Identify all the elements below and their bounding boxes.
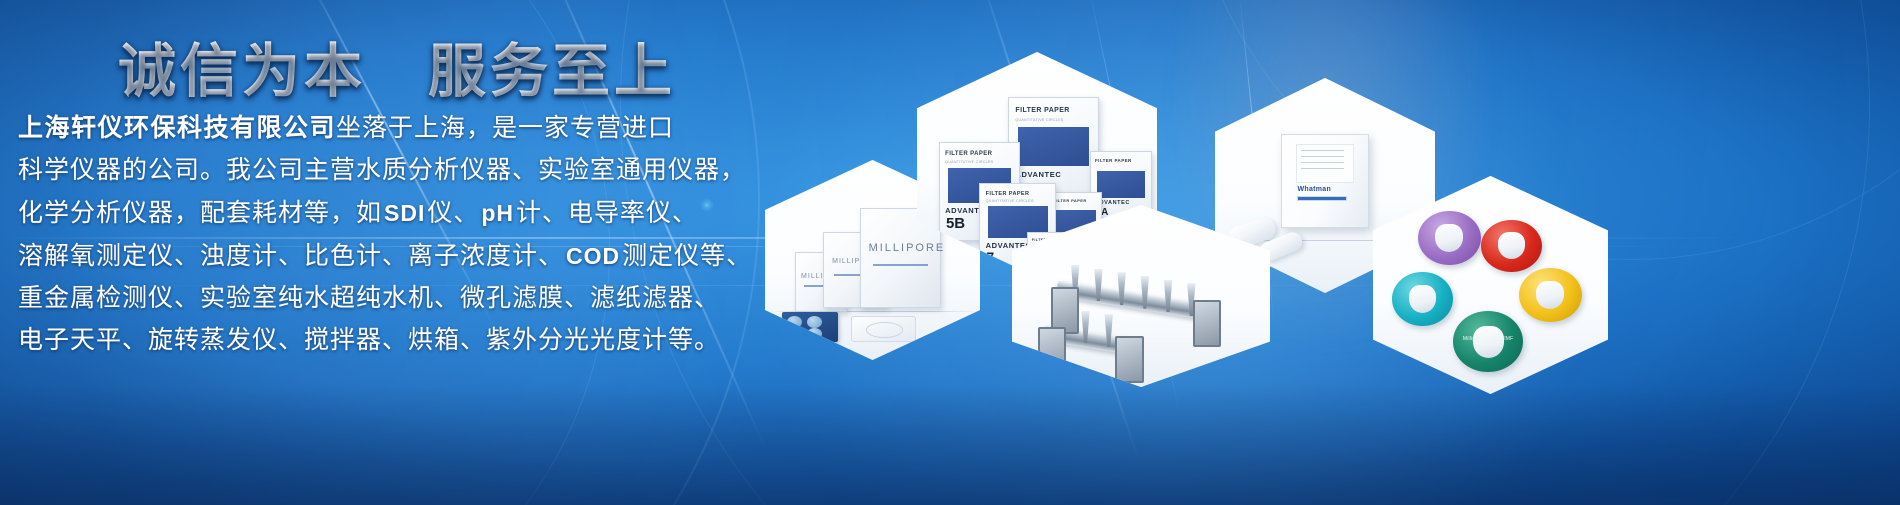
advantec-brand: ADVANTEC	[1095, 200, 1147, 206]
term-sdi: SDI	[382, 200, 427, 226]
description-line-3-a: 化学分析仪器，配套耗材等，如	[18, 200, 382, 227]
filter-paper-title: FILTER PAPER	[945, 151, 1013, 157]
description-line-3: 化学分析仪器，配套耗材等，如SDI仪、pH计、电导率仪、	[18, 192, 728, 235]
millipore-brand-large: MILLIPORE	[869, 242, 933, 254]
advantec-brand: ADVANTEC	[1015, 170, 1092, 179]
whatman-blue-bar	[1297, 196, 1347, 201]
banner-headline: 诚信为本 服务至上	[118, 24, 676, 108]
description-line-2: 科学仪器的公司。我公司主营水质分析仪器、实验室通用仪器，	[18, 150, 728, 192]
filter-paper-subtitle: QUANTITATIVE CIRCLES	[1015, 118, 1092, 122]
company-description: 上海轩仪环保科技有限公司坐落于上海，是一家专营进口 科学仪器的公司。我公司主营水…	[18, 108, 728, 362]
description-line-4: 溶解氧测定仪、浊度计、比色计、离子浓度计、COD测定仪等、	[18, 235, 728, 278]
description-line-1-rest: 坐落于上海，是一家专营进口	[336, 115, 674, 142]
membrane-disc	[787, 316, 803, 329]
whatman-brand: Whatman	[1297, 186, 1331, 193]
whatman-box: Whatman	[1281, 134, 1369, 229]
description-line-4-a: 溶解氧测定仪、浊度计、比色计、离子浓度计、	[18, 243, 564, 270]
manifold-leg	[1038, 327, 1066, 374]
manifold-leg	[1193, 300, 1221, 347]
filter-paper-blue-square	[1097, 171, 1145, 198]
syringe-filter-purple	[1418, 211, 1481, 266]
membrane-disc-tray	[782, 312, 838, 342]
description-line-5: 重金属检测仪、实验室纯水超纯水机、微孔滤膜、滤纸滤器、	[18, 278, 728, 320]
syringe-filter-yellow	[1519, 268, 1582, 323]
description-line-1: 上海轩仪环保科技有限公司坐落于上海，是一家专营进口	[18, 108, 728, 150]
manifold-leg	[1115, 336, 1143, 383]
membrane-disc	[807, 316, 823, 329]
membrane-disc	[807, 328, 823, 341]
product-hexagon-gallery: MILLIPORE MILLIPORE MILLIPORE	[735, 0, 1900, 505]
description-line-3-c: 计、电导率仪、	[516, 200, 698, 227]
company-name: 上海轩仪环保科技有限公司	[18, 115, 336, 142]
filter-paper-subtitle: QUANTITATIVE CIRCLES	[986, 199, 1050, 203]
membrane-disc	[787, 328, 803, 341]
syringe-filter-red	[1481, 220, 1542, 272]
filter-paper-blue-square	[1018, 127, 1089, 167]
description-line-6: 电子天平、旋转蒸发仪、搅拌器、烘箱、紫外分光光度计等。	[18, 320, 728, 362]
filter-paper-subtitle: QUANTITATIVE CIRCLES	[945, 160, 1013, 164]
term-ph: pH	[479, 200, 516, 226]
petri-dish	[851, 316, 916, 342]
whatman-label	[1296, 144, 1354, 183]
syringe-filter-teal	[1392, 272, 1453, 327]
filter-paper-title: FILTER PAPER	[1015, 107, 1092, 114]
description-line-3-b: 仪、	[427, 200, 479, 227]
filter-paper-code-7: 7	[986, 250, 994, 264]
filter-paper-title: FILTER PAPER	[1054, 198, 1098, 203]
filter-paper-title: FILTER PAPER	[986, 191, 1050, 197]
filter-paper-code-5b: 5B	[946, 216, 965, 231]
description-line-4-b: 测定仪等、	[622, 243, 752, 270]
promo-banner: 诚信为本 服务至上 上海轩仪环保科技有限公司坐落于上海，是一家专营进口 科学仪器…	[0, 0, 1900, 505]
filter-paper-title: FILTER PAPER	[1095, 158, 1147, 163]
millipore-stripe	[873, 264, 927, 266]
term-cod: COD	[564, 243, 622, 269]
syringe-filter-green: Millipore Millex-EIMF PES 0.22	[1453, 311, 1524, 372]
syringe-filter-label: Millipore Millex-EIMF PES 0.22	[1461, 336, 1515, 348]
